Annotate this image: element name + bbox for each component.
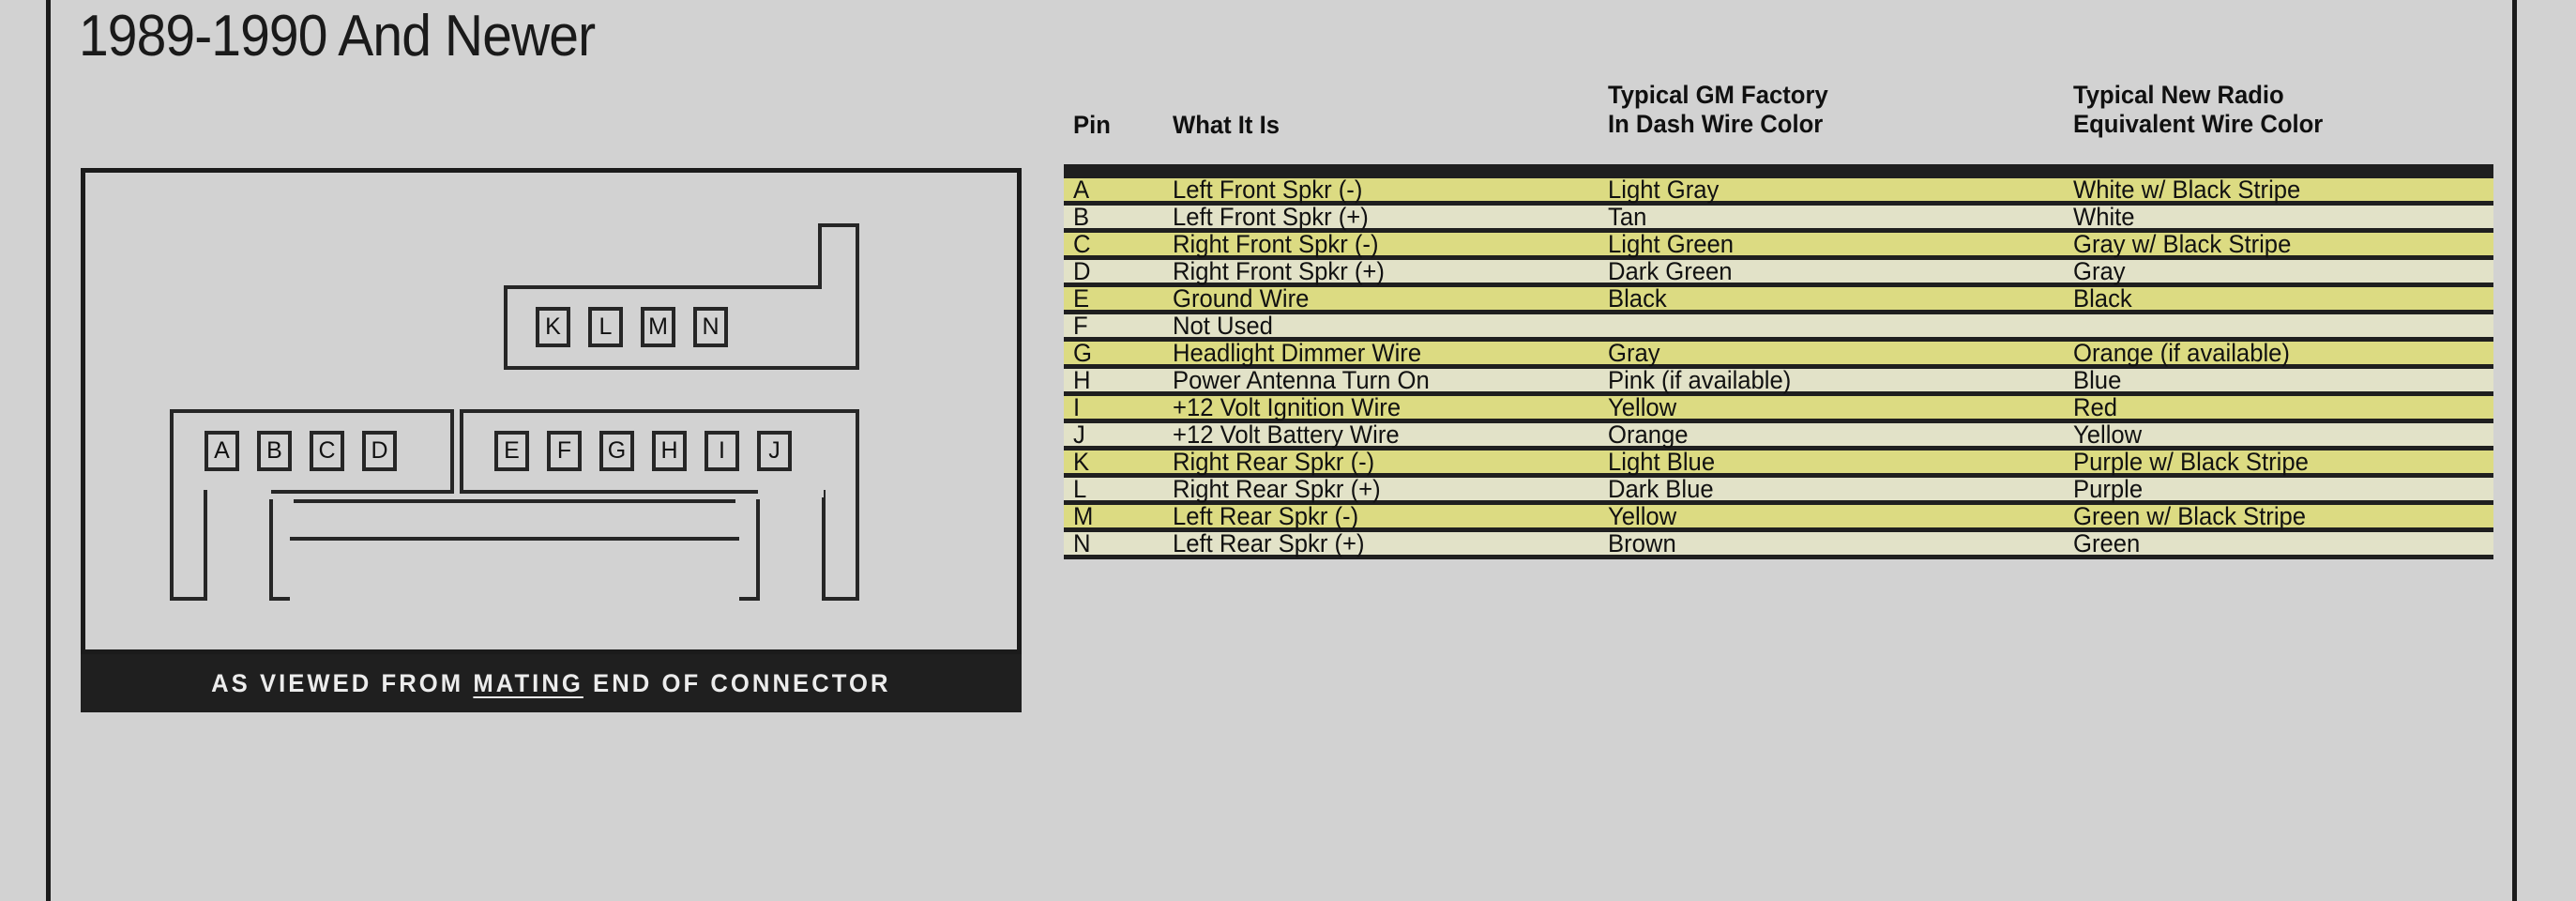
col-header-new-line2: Equivalent Wire Color	[2073, 110, 2323, 139]
cell-description: Left Front Spkr (+)	[1173, 203, 1369, 231]
connector-shell-upper-tab	[818, 223, 859, 289]
pin-cell-G: G	[599, 431, 634, 471]
cell-gm-wire-color: Light Blue	[1608, 448, 1715, 476]
cell-new-wire-color: Gray	[2073, 257, 2126, 285]
cell-gm-wire-color: Dark Blue	[1608, 475, 1714, 503]
cell-pin: I	[1073, 393, 1080, 421]
connector-mask-leg-right	[826, 488, 856, 497]
cell-new-wire-color: Red	[2073, 393, 2117, 421]
cell-gm-wire-color: Pink (if available)	[1608, 366, 1791, 394]
cell-pin: A	[1073, 176, 1089, 204]
cell-new-wire-color: Yellow	[2073, 420, 2142, 449]
pin-cell-J: J	[757, 431, 792, 471]
connector-mask-latch-left	[273, 497, 294, 542]
cell-gm-wire-color: Light Green	[1608, 230, 1734, 258]
table-row: BLeft Front Spkr (+)TanWhite	[1064, 206, 2493, 228]
cell-new-wire-color: Green w/ Black Stripe	[2073, 502, 2306, 530]
pin-cell-A: A	[205, 431, 239, 471]
cell-description: Left Rear Spkr (-)	[1173, 502, 1358, 530]
connector-view-caption: AS VIEWED FROM MATING END OF CONNECTOR	[81, 654, 1022, 712]
cell-pin: F	[1073, 312, 1088, 340]
table-row: ALeft Front Spkr (-)Light GrayWhite w/ B…	[1064, 178, 2493, 201]
table-row: KRight Rear Spkr (-)Light BluePurple w/ …	[1064, 450, 2493, 473]
pin-cell-N: N	[693, 307, 728, 347]
right-frame-rule	[2512, 0, 2517, 901]
cell-gm-wire-color: Orange	[1608, 420, 1689, 449]
cell-gm-wire-color: Brown	[1608, 529, 1676, 557]
pin-cell-K: K	[536, 307, 570, 347]
left-frame-rule	[46, 0, 51, 901]
cell-pin: L	[1073, 475, 1086, 503]
connector-leg-right	[822, 490, 859, 601]
col-header-gm-line2: In Dash Wire Color	[1608, 110, 1828, 139]
cell-new-wire-color: Purple	[2073, 475, 2143, 503]
pin-cell-D: D	[362, 431, 397, 471]
connector-mask-leg-left	[174, 488, 204, 497]
caption-after: END OF CONNECTOR	[583, 669, 891, 697]
table-row: J+12 Volt Battery WireOrangeYellow	[1064, 423, 2493, 446]
cell-description: +12 Volt Battery Wire	[1173, 420, 1400, 449]
cell-pin: B	[1073, 203, 1089, 231]
cell-description: Left Front Spkr (-)	[1173, 176, 1362, 204]
pin-cell-H: H	[652, 431, 687, 471]
table-row: EGround WireBlackBlack	[1064, 287, 2493, 310]
pin-cell-M: M	[641, 307, 675, 347]
cell-gm-wire-color: Tan	[1608, 203, 1646, 231]
pin-cell-I: I	[705, 431, 739, 471]
cell-pin: C	[1073, 230, 1091, 258]
connector-leg-left	[170, 490, 207, 601]
pin-cell-B: B	[257, 431, 292, 471]
table-row: HPower Antenna Turn OnPink (if available…	[1064, 369, 2493, 391]
cell-new-wire-color: White w/ Black Stripe	[2073, 176, 2300, 204]
cell-description: Left Rear Spkr (+)	[1173, 529, 1365, 557]
table-row: FNot Used	[1064, 314, 2493, 337]
cell-pin: H	[1073, 366, 1091, 394]
wiring-reference-page: 1989-1990 And Newer	[0, 0, 2576, 901]
pin-cell-L: L	[588, 307, 623, 347]
connector-mask-upper-tab	[822, 283, 856, 293]
table-row: NLeft Rear Spkr (+)BrownGreen	[1064, 532, 2493, 555]
cell-description: Headlight Dimmer Wire	[1173, 339, 1421, 367]
cell-gm-wire-color: Yellow	[1608, 393, 1676, 421]
page-title: 1989-1990 And Newer	[79, 8, 595, 66]
cell-new-wire-color: Green	[2073, 529, 2140, 557]
cell-pin: J	[1073, 420, 1085, 449]
pin-cell-F: F	[547, 431, 582, 471]
caption-mating-word: MATING	[474, 669, 584, 697]
table-row: I+12 Volt Ignition WireYellowRed	[1064, 396, 2493, 419]
cell-gm-wire-color: Black	[1608, 284, 1667, 313]
cell-pin: E	[1073, 284, 1089, 313]
cell-gm-wire-color: Dark Green	[1608, 257, 1733, 285]
cell-description: +12 Volt Ignition Wire	[1173, 393, 1401, 421]
cell-description: Ground Wire	[1173, 284, 1309, 313]
cell-pin: K	[1073, 448, 1089, 476]
connector-diagram-panel: K L M N A B C D E F G H I J	[81, 168, 1022, 654]
caption-text: AS VIEWED FROM MATING END OF CONNECTOR	[211, 669, 890, 698]
cell-new-wire-color: Blue	[2073, 366, 2121, 394]
cell-description: Not Used	[1173, 312, 1273, 340]
pinout-table: Pin What It Is Typical GM Factory In Das…	[1064, 56, 2493, 559]
table-row: DRight Front Spkr (+)Dark GreenGray	[1064, 260, 2493, 283]
cell-pin: G	[1073, 339, 1092, 367]
cell-new-wire-color: Purple w/ Black Stripe	[2073, 448, 2309, 476]
connector-drawing: K L M N A B C D E F G H I J	[85, 173, 1017, 586]
cell-gm-wire-color: Gray	[1608, 339, 1660, 367]
cell-description: Right Front Spkr (+)	[1173, 257, 1385, 285]
pin-cell-E: E	[494, 431, 529, 471]
col-header-new-wire-color: Typical New Radio Equivalent Wire Color	[2073, 81, 2323, 139]
connector-mask-latch-right	[735, 497, 756, 542]
connector-mask-bottom-seam-right	[758, 488, 824, 497]
cell-new-wire-color: White	[2073, 203, 2135, 231]
cell-gm-wire-color: Light Gray	[1608, 176, 1719, 204]
cell-description: Right Rear Spkr (+)	[1173, 475, 1381, 503]
table-row: LRight Rear Spkr (+)Dark BluePurple	[1064, 478, 2493, 500]
connector-latch-inner-bar	[290, 537, 739, 603]
col-header-new-line1: Typical New Radio	[2073, 81, 2323, 110]
col-header-gm-line1: Typical GM Factory	[1608, 81, 1828, 110]
cell-pin: N	[1073, 529, 1091, 557]
pin-cell-C: C	[310, 431, 344, 471]
col-header-pin: Pin	[1073, 111, 1111, 140]
cell-description: Right Front Spkr (-)	[1173, 230, 1378, 258]
cell-new-wire-color: Gray w/ Black Stripe	[2073, 230, 2291, 258]
table-row: MLeft Rear Spkr (-)YellowGreen w/ Black …	[1064, 505, 2493, 527]
cell-description: Power Antenna Turn On	[1173, 366, 1430, 394]
col-header-what: What It Is	[1173, 111, 1280, 140]
cell-pin: M	[1073, 502, 1093, 530]
cell-new-wire-color: Orange (if available)	[2073, 339, 2290, 367]
cell-gm-wire-color: Yellow	[1608, 502, 1676, 530]
caption-before: AS VIEWED FROM	[211, 669, 473, 697]
cell-pin: D	[1073, 257, 1091, 285]
table-body: ALeft Front Spkr (-)Light GrayWhite w/ B…	[1064, 178, 2493, 559]
cell-description: Right Rear Spkr (-)	[1173, 448, 1374, 476]
table-row: GHeadlight Dimmer WireGrayOrange (if ava…	[1064, 342, 2493, 364]
col-header-gm-wire-color: Typical GM Factory In Dash Wire Color	[1608, 81, 1828, 139]
cell-new-wire-color: Black	[2073, 284, 2132, 313]
connector-mask-bottom-seam-left	[207, 488, 271, 497]
table-row: CRight Front Spkr (-)Light GreenGray w/ …	[1064, 233, 2493, 255]
table-header: Pin What It Is Typical GM Factory In Das…	[1064, 56, 2493, 164]
